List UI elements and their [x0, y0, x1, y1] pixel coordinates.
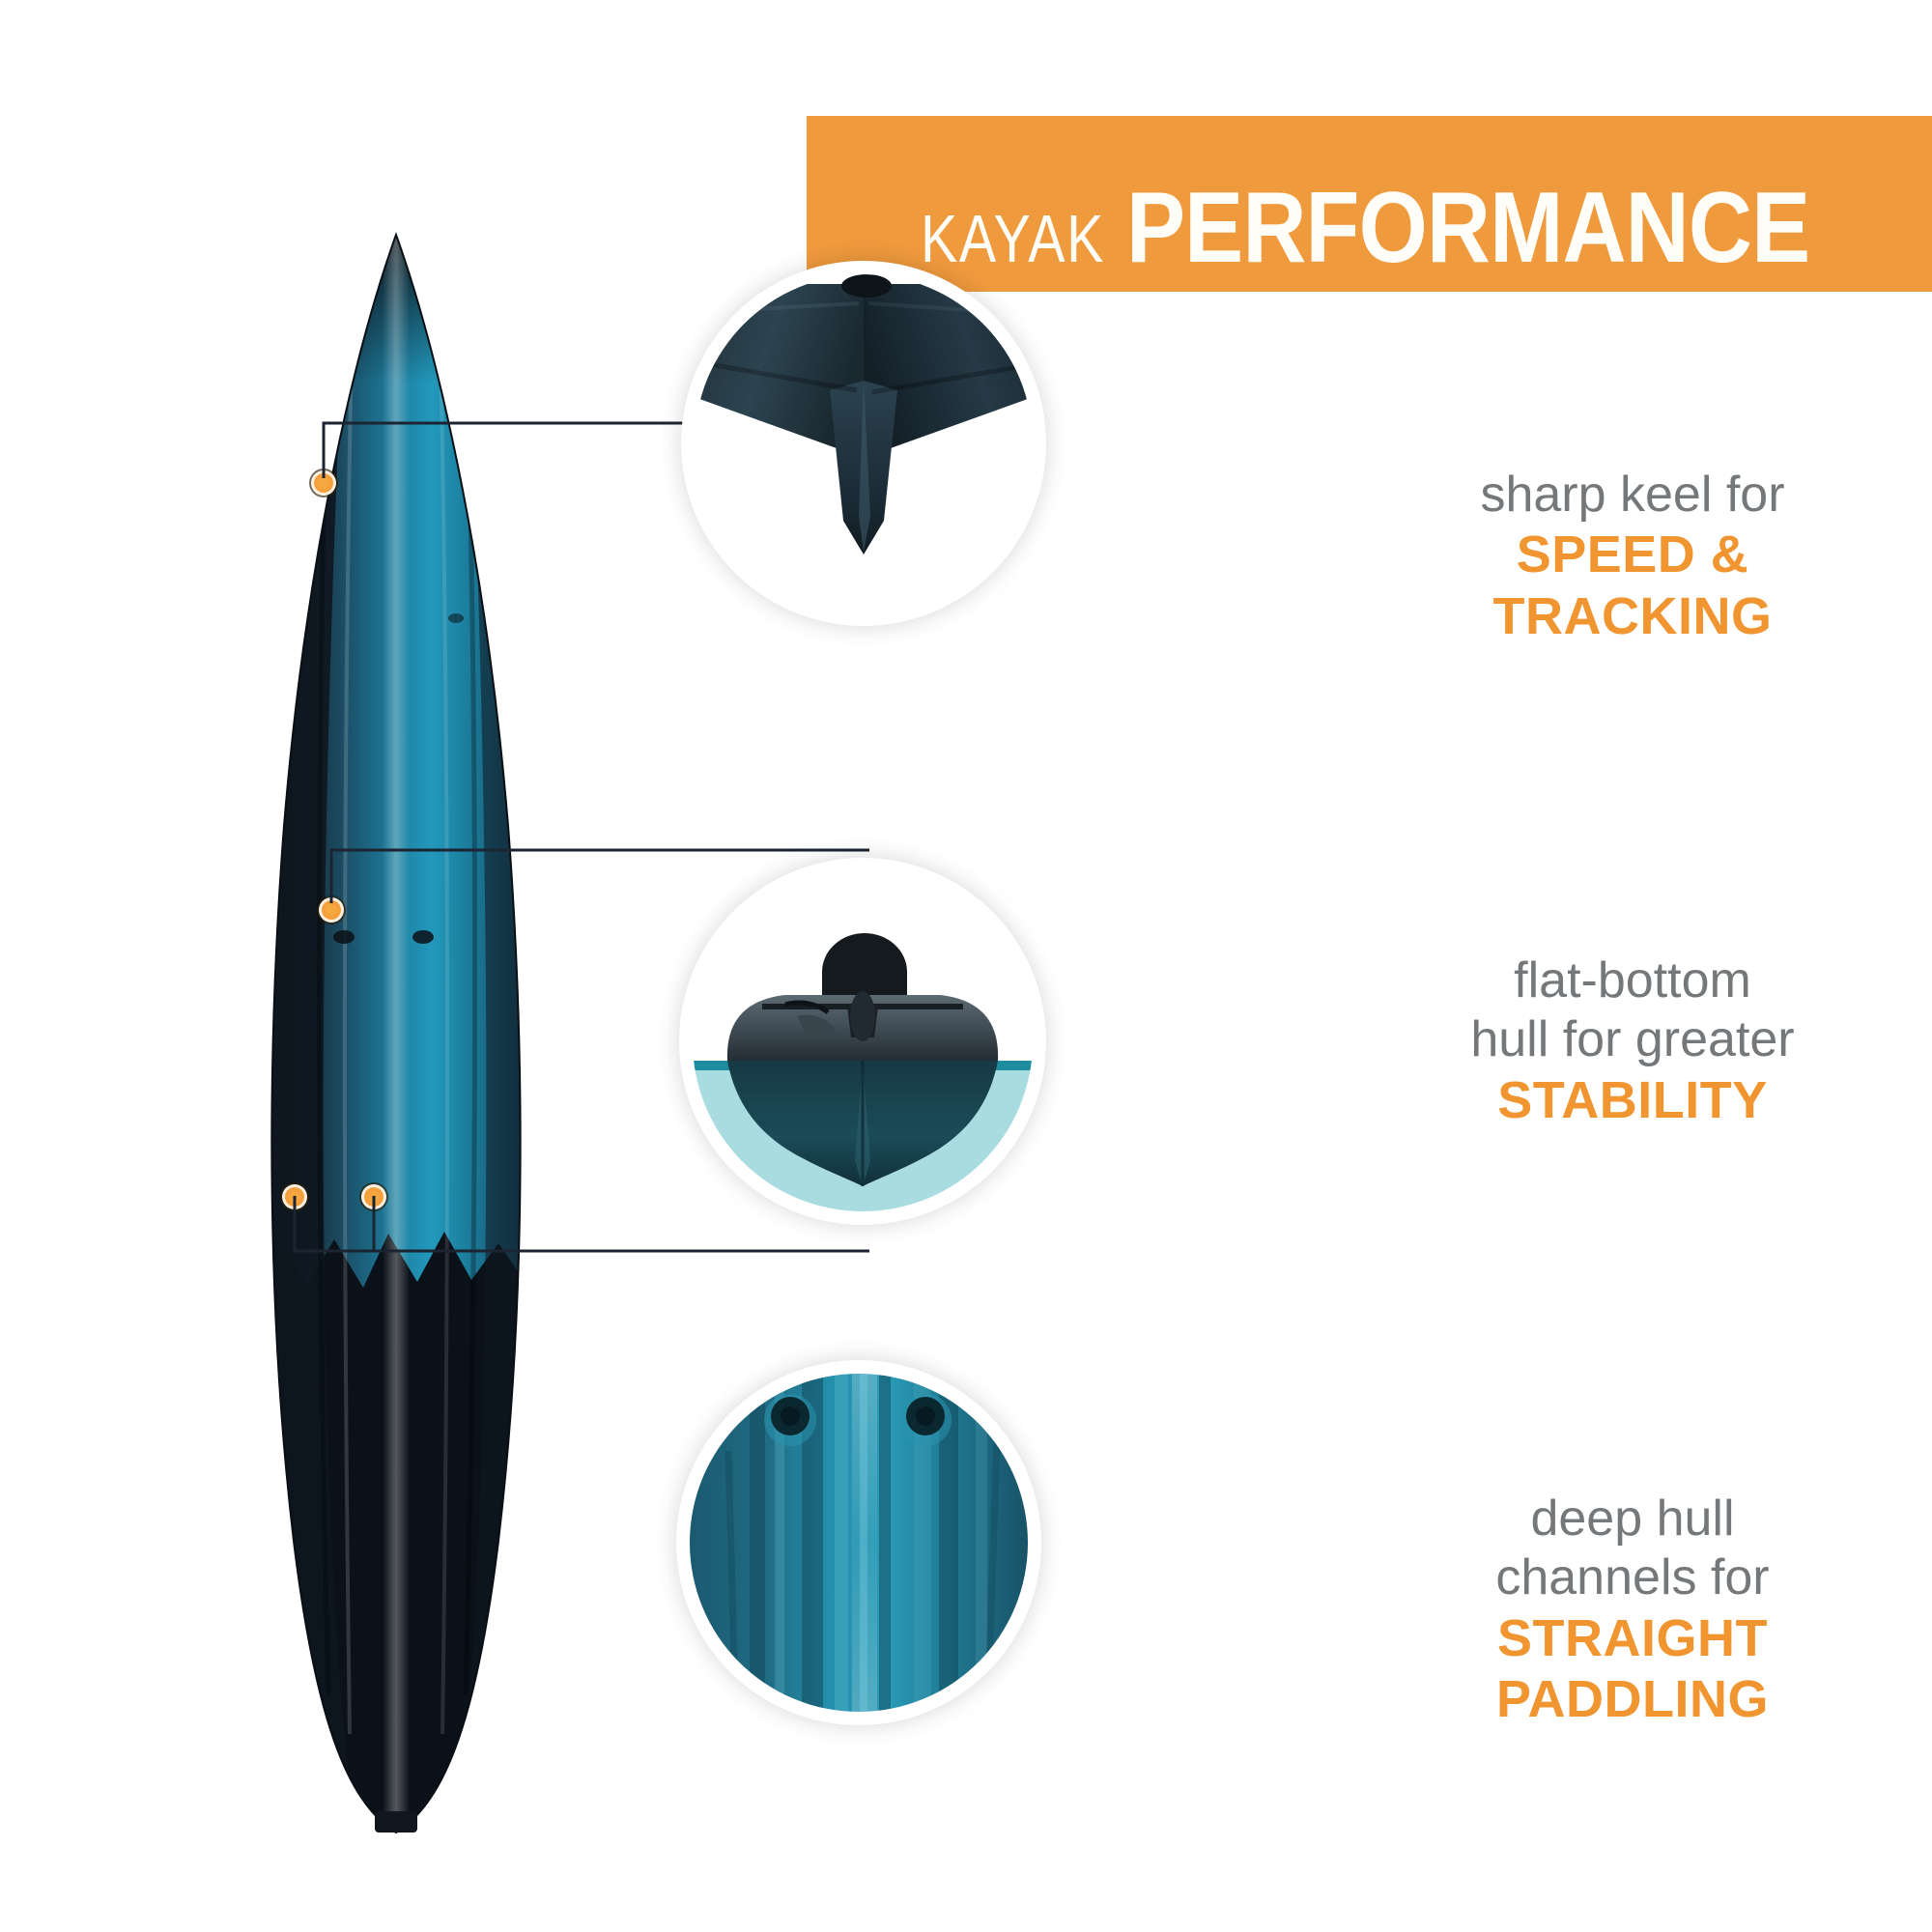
hull-waterline-inner — [693, 871, 1033, 1211]
drain-plug-right — [899, 1394, 952, 1446]
callout-1-highlight-1: SPEED & — [1381, 525, 1884, 586]
marker-channel-left-core — [289, 1191, 300, 1203]
page-title: KAYAKPERFORMANCE — [880, 178, 1903, 278]
callout-1-highlight-2: TRACKING — [1381, 586, 1884, 648]
hull-channels-photo — [676, 1360, 1041, 1725]
marker-channel-left[interactable] — [282, 1184, 307, 1209]
title-word-kayak: KAYAK — [921, 205, 1105, 272]
infographic-canvas: KAYAKPERFORMANCE — [0, 0, 1932, 1932]
kayak-hull-svg — [145, 227, 570, 1840]
callout-2-line-2: hull for greater — [1372, 1010, 1893, 1069]
drain-plug-left — [764, 1394, 816, 1446]
header-banner: KAYAKPERFORMANCE — [807, 116, 1932, 292]
callout-speed-tracking: sharp keel for SPEED & TRACKING — [1381, 466, 1884, 648]
hull-body — [241, 227, 570, 1840]
marker-keel-core — [318, 477, 329, 489]
callout-3-highlight-1: STRAIGHT — [1381, 1608, 1884, 1670]
marker-channel-right-core — [368, 1191, 380, 1203]
title-word-performance: PERFORMANCE — [1126, 178, 1809, 278]
callout-1-line-1: sharp keel for — [1381, 466, 1884, 525]
callout-3-highlight-2: PADDLING — [1381, 1669, 1884, 1731]
hull-channels-inner — [690, 1374, 1028, 1712]
callout-stability: flat-bottom hull for greater STABILITY — [1372, 952, 1893, 1131]
kayak-hull-image — [145, 227, 570, 1840]
marker-stability[interactable] — [319, 897, 344, 923]
marker-stability-core — [326, 904, 337, 916]
marker-keel[interactable] — [311, 470, 336, 496]
stern-skid-plate — [375, 1811, 417, 1833]
callout-2-line-1: flat-bottom — [1372, 952, 1893, 1010]
hull-waterline-photo — [679, 858, 1046, 1225]
callout-3-line-1: deep hull — [1381, 1490, 1884, 1548]
keel-closeup-svg — [695, 274, 1033, 612]
callout-3-line-2: channels for — [1381, 1548, 1884, 1607]
hull-channels-svg — [690, 1374, 1028, 1712]
hull-waterline-svg — [693, 871, 1033, 1211]
keel-closeup-inner — [695, 274, 1033, 612]
keel-closeup-photo — [681, 261, 1046, 626]
callout-2-highlight-1: STABILITY — [1372, 1070, 1893, 1132]
marker-channel-right[interactable] — [361, 1184, 386, 1209]
callout-straight-paddling: deep hull channels for STRAIGHT PADDLING — [1381, 1490, 1884, 1731]
